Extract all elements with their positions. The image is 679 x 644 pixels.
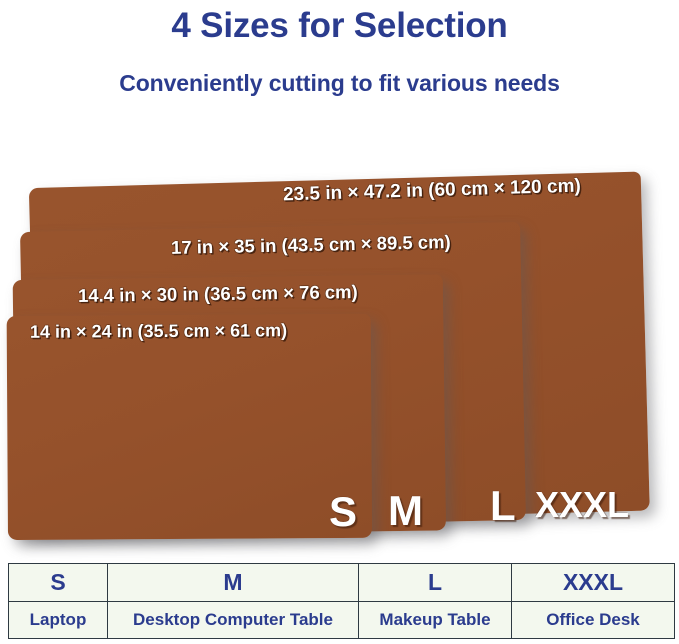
table-cell-code-xxxl: XXXL [512,564,675,602]
table-row-usages: Laptop Desktop Computer Table Makeup Tab… [9,602,675,639]
table-cell-code-m: M [108,564,359,602]
dimension-label-s: 14 in × 24 in (35.5 cm × 61 cm) [30,320,287,343]
table-cell-code-l: L [359,564,512,602]
mat-s [7,314,372,540]
table-cell-use-l: Makeup Table [359,602,512,639]
size-letter-l: L [490,485,516,527]
size-letter-s: S [329,491,357,533]
table-cell-use-xxxl: Office Desk [512,602,675,639]
table-row-size-codes: S M L XXXL [9,564,675,602]
table-cell-use-m: Desktop Computer Table [108,602,359,639]
size-letter-xxxl: XXXL [535,487,629,523]
dimension-label-m: 14.4 in × 30 in (36.5 cm × 76 cm) [78,281,358,307]
size-letter-m: M [388,490,423,532]
table-cell-use-s: Laptop [9,602,108,639]
size-usage-table: S M L XXXL Laptop Desktop Computer Table… [8,563,675,639]
mat-size-illustration: 23.5 in × 47.2 in (60 cm × 120 cm) 17 in… [0,0,679,560]
table-cell-code-s: S [9,564,108,602]
